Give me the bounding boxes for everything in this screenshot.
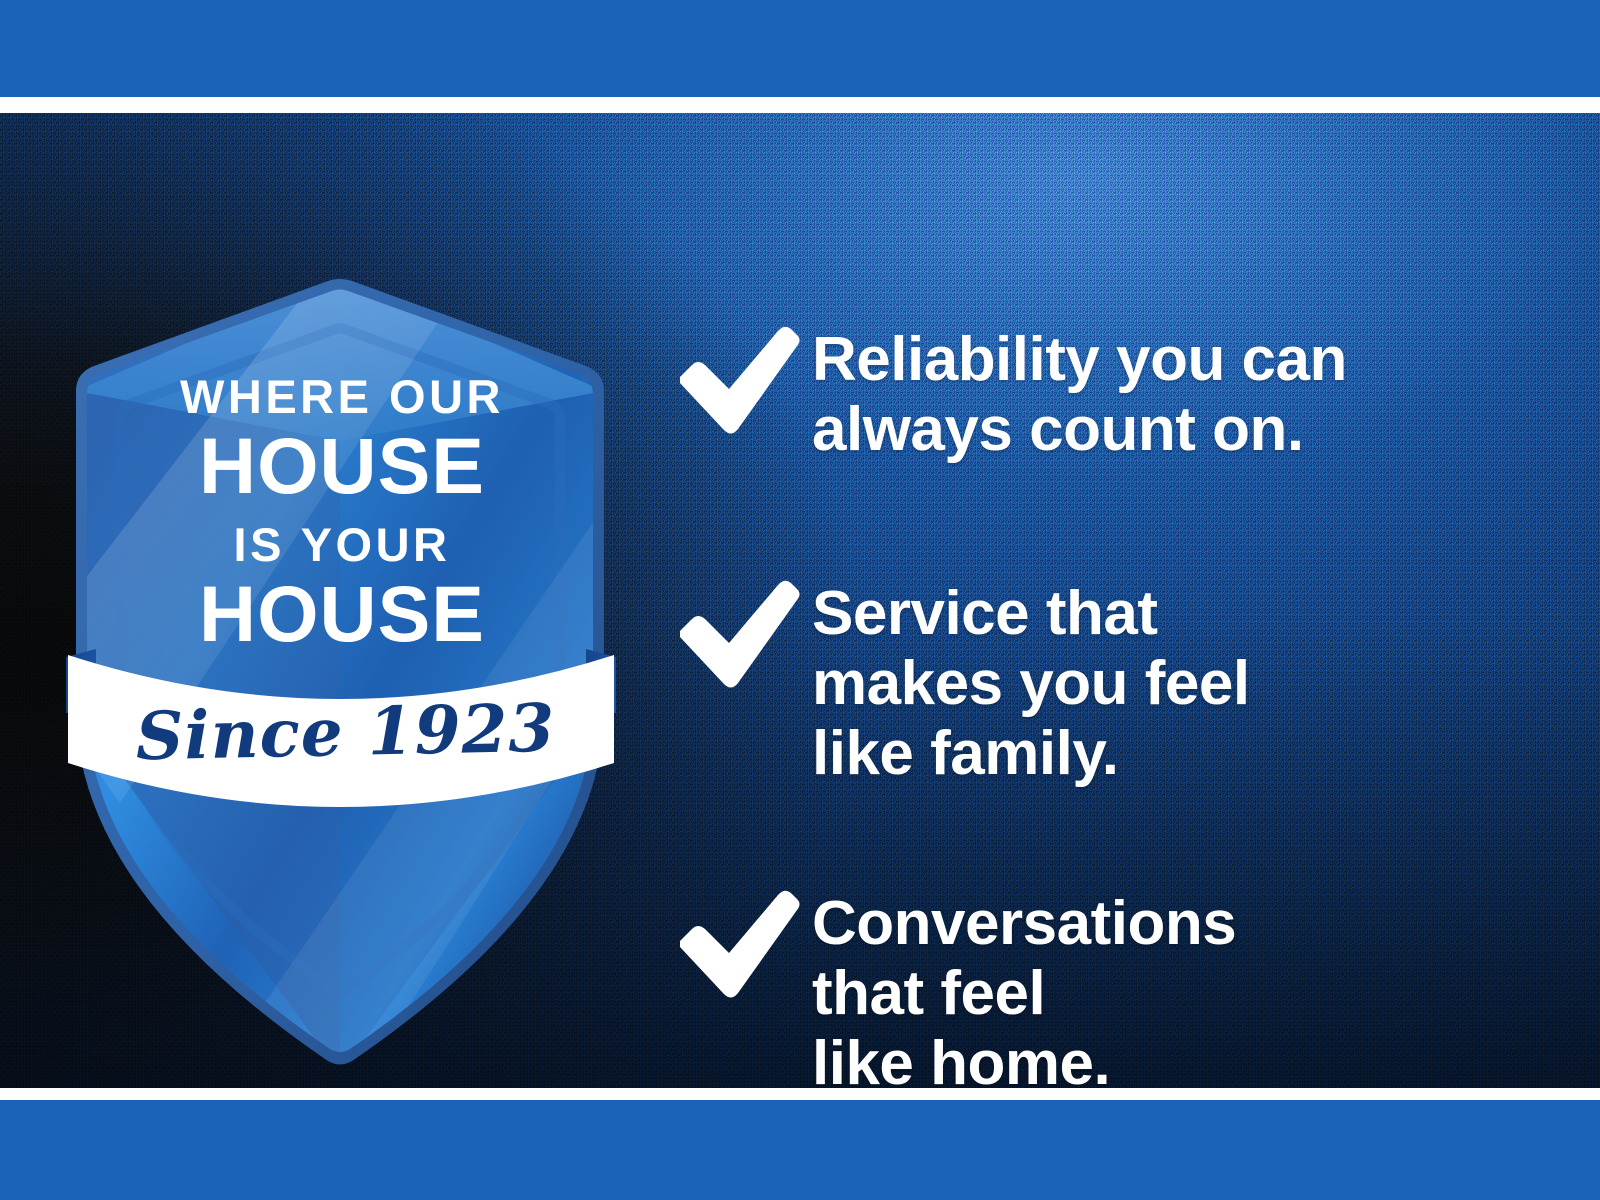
benefit-text: Conversations that feel like home. (812, 885, 1236, 1088)
bottom-white-divider (0, 1088, 1600, 1100)
benefit-item-service: Service that makes you feel like family. (672, 575, 1250, 789)
bottom-brand-bar (0, 1100, 1600, 1200)
main-panel: WHERE OUR HOUSE IS YOUR HOUSE Since 1923 (0, 113, 1600, 1088)
shield-line-4: HOUSE (199, 569, 485, 658)
benefit-text: Service that makes you feel like family. (812, 575, 1250, 789)
banner-text: Since 1923 (135, 689, 556, 776)
promo-graphic: WHERE OUR HOUSE IS YOUR HOUSE Since 1923 (0, 0, 1600, 1200)
benefit-item-reliability: Reliability you can always count on. (672, 321, 1347, 465)
shield-line-1: WHERE OUR (180, 370, 504, 423)
shield-line-3: IS YOUR (234, 518, 451, 571)
checkmark-icon (672, 885, 812, 1005)
shield-line-2: HOUSE (199, 421, 485, 510)
top-brand-bar (0, 0, 1600, 97)
checkmark-icon (672, 321, 812, 441)
top-white-divider (0, 97, 1600, 113)
checkmark-icon (672, 575, 812, 695)
shield-logo: WHERE OUR HOUSE IS YOUR HOUSE Since 1923 (60, 243, 620, 943)
benefit-item-conversations: Conversations that feel like home. (672, 885, 1236, 1088)
benefit-text: Reliability you can always count on. (812, 321, 1347, 465)
